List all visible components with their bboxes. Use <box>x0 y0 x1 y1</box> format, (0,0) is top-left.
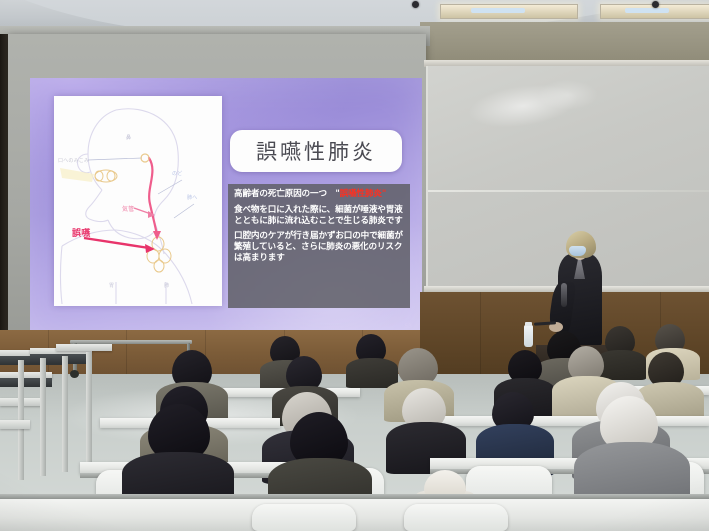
slide-body-quote-close: " <box>382 189 386 199</box>
slide-title-text: 誤嚥性肺炎 <box>256 136 376 166</box>
slide-title-pill: 誤嚥性肺炎 <box>230 130 402 172</box>
desk-row-3-right <box>440 416 709 426</box>
diagram-label-hai: 肺へ <box>187 194 197 201</box>
slide-body-lead: 高齢者の死亡原因の一つ <box>234 189 335 199</box>
anatomy-diagram: 誤嚥 気管 のど 肺へ 口へのみこみ 鼻 胃 肺 <box>54 96 222 306</box>
slide-body-box: 高齢者の死亡原因の一つ "誤嚥性肺炎" 食べ物を口に入れた際に、細菌が唾液や胃液… <box>228 184 410 308</box>
diagram-label-stomach: 胃 <box>109 282 114 289</box>
ceiling-light-left <box>440 4 578 19</box>
diagram-label-nodo: のど <box>172 170 182 177</box>
slide-page-number: 53 <box>404 323 412 330</box>
microphone <box>561 283 567 307</box>
chair-front-2 <box>404 504 508 531</box>
chair-front-1 <box>252 504 356 531</box>
water-bottle <box>524 325 533 347</box>
presentation-slide: 誤嚥 気管 のど 肺へ 口へのみこみ 鼻 胃 肺 誤嚥性肺炎 高齢者の死亡原因の… <box>30 78 422 336</box>
whiteboard-panel-seam <box>428 190 709 192</box>
speaker-face-mask <box>569 246 586 256</box>
water-bottle-cap <box>525 322 532 326</box>
diagram-label-gosen: 誤嚥 <box>72 226 90 239</box>
ceiling-speaker-icon <box>412 1 419 8</box>
bench-post-3 <box>62 356 68 472</box>
bench-post-4 <box>86 352 92 464</box>
diagram-label-lung: 肺 <box>164 282 169 289</box>
slide-paragraph-3: 口腔内のケアが行き届かずお口の中で細菌が繁殖していると、さらに肺炎の悪化のリスク… <box>234 231 404 263</box>
ceiling-sensor-icon <box>652 1 659 8</box>
lecture-hall-scene: 誤嚥 気管 のど 肺へ 口へのみこみ 鼻 胃 肺 誤嚥性肺炎 高齢者の死亡原因の… <box>0 0 709 531</box>
slide-paragraph-2: 食べ物を口に入れた際に、細菌が唾液や胃液とともに肺に流れ込むことで生じる肺炎です <box>234 205 404 227</box>
bench-row-6 <box>0 420 30 429</box>
diagram-label-kikan: 気管 <box>122 204 134 213</box>
slide-body-highlight: 誤嚥性肺炎 <box>340 189 382 199</box>
projection-screen: 誤嚥 気管 のど 肺へ 口へのみこみ 鼻 胃 肺 誤嚥性肺炎 高齢者の死亡原因の… <box>8 34 426 330</box>
diagram-label-nomikomi: 口へのみこみ <box>58 157 89 164</box>
bench-post-2 <box>40 358 46 476</box>
slide-body-line-1: 高齢者の死亡原因の一つ "誤嚥性肺炎" <box>234 189 404 200</box>
folded-table-caster <box>70 370 79 378</box>
bench-row-5 <box>56 344 112 351</box>
diagram-label-nose: 鼻 <box>126 134 131 141</box>
whiteboard-glare-secondary <box>538 80 598 110</box>
desk-row-front-edge <box>0 494 709 499</box>
